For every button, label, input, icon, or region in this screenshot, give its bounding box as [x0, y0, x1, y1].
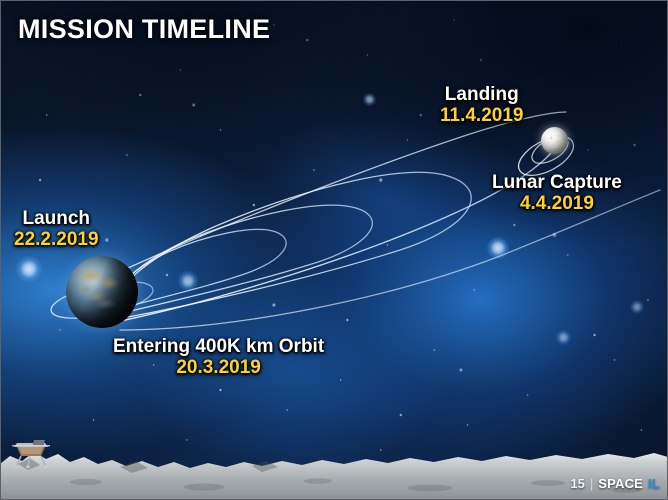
brand-name-accent: IL: [648, 477, 660, 490]
brand-name-primary: SPACE: [598, 477, 643, 490]
event-title-orbit: Entering 400K km Orbit: [113, 336, 324, 357]
moon-icon: [541, 127, 568, 154]
event-date-landing: 11.4.2019: [440, 105, 523, 126]
event-label-lunar-capture: Lunar Capture 4.4.2019: [492, 172, 622, 215]
event-title-lunar-capture: Lunar Capture: [492, 172, 622, 193]
moon-craters: [541, 127, 568, 154]
event-label-orbit: Entering 400K km Orbit 20.3.2019: [113, 336, 324, 379]
page-number: 15: [570, 477, 584, 490]
event-label-landing: Landing 11.4.2019: [440, 84, 523, 127]
footer-separator: |: [590, 477, 593, 490]
event-date-lunar-capture: 4.4.2019: [492, 193, 622, 214]
event-label-launch: Launch 22.2.2019: [14, 208, 99, 251]
orbit-trajectory-icon: [0, 0, 668, 500]
event-title-landing: Landing: [440, 84, 523, 105]
event-title-launch: Launch: [14, 208, 99, 229]
mission-timeline-slide: MISSION TIMELINE Launch 22.2.2019 Enteri…: [0, 0, 668, 500]
page-title: MISSION TIMELINE: [18, 14, 270, 45]
event-date-orbit: 20.3.2019: [113, 357, 324, 378]
earth-terminator: [66, 256, 138, 328]
footer-brand: 15 | SPACE IL: [570, 477, 660, 490]
lunar-lander-icon: [8, 436, 54, 468]
lunar-surface-icon: [0, 434, 668, 500]
event-date-launch: 22.2.2019: [14, 229, 99, 250]
earth-globe-icon: [66, 256, 138, 328]
